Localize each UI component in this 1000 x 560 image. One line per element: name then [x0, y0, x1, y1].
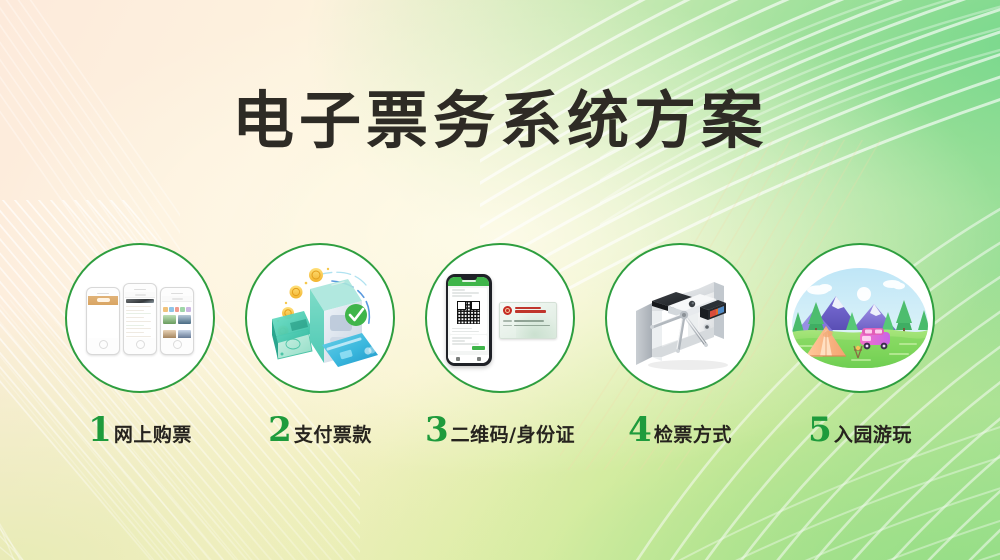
- step-3-label: 二维码/身份证: [451, 420, 575, 447]
- step-1-label: 网上购票: [114, 420, 192, 447]
- phone-attraction-gallery: [160, 287, 194, 355]
- step-3-number: 3: [425, 413, 449, 447]
- step-3-qr-and-id[interactable]: 3 二维码/身份证: [425, 243, 575, 447]
- step-1-caption: 1 网上购票: [88, 413, 192, 447]
- step-4-ticket-check[interactable]: 4 检票方式: [605, 243, 755, 447]
- step-2-label: 支付票款: [294, 420, 372, 447]
- phone-wallet-coins-card-payment-icon: [247, 245, 393, 391]
- page-title: 电子票务系统方案: [0, 86, 1000, 155]
- step-5-circle[interactable]: [785, 243, 935, 393]
- qr-action-button[interactable]: [472, 346, 485, 350]
- step-1-online-ticket-purchase[interactable]: 1 网上购票: [65, 243, 215, 447]
- turnstile-illustration: [622, 265, 742, 375]
- qr-code: [456, 300, 481, 325]
- steps-row: 1 网上购票: [0, 243, 1000, 447]
- step-5-label: 入园游玩: [834, 420, 912, 447]
- step-4-label: 检票方式: [654, 420, 732, 447]
- step-1-circle[interactable]: [65, 243, 215, 393]
- national-emblem-icon: [503, 306, 512, 315]
- three-smartphones-booking-app-icon: [67, 245, 213, 391]
- step-4-circle[interactable]: [605, 243, 755, 393]
- step-2-caption: 2 支付票款: [268, 413, 372, 447]
- step-3-caption: 3 二维码/身份证: [425, 413, 575, 447]
- tripod-turnstile-gate-icon: [607, 245, 753, 391]
- step-5-caption: 5 入园游玩: [808, 413, 912, 447]
- step-2-payment[interactable]: 2 支付票款: [245, 243, 395, 447]
- step-5-number: 5: [808, 413, 832, 447]
- step-3-circle[interactable]: [425, 243, 575, 393]
- camping-illustration: [792, 268, 928, 368]
- camping-scene-tent-mountains-icon: [787, 245, 933, 391]
- phone-booking-form: [86, 287, 120, 355]
- chinese-id-card: [499, 302, 557, 339]
- phone-attraction-detail: [123, 283, 157, 355]
- step-4-caption: 4 检票方式: [628, 413, 732, 447]
- step-5-enter-park[interactable]: 5 入园游玩: [785, 243, 935, 447]
- qr-code-phone-and-id-card-icon: [427, 245, 573, 391]
- phone-tab-bar[interactable]: [448, 355, 489, 363]
- qr-ticket-phone: [446, 274, 492, 366]
- step-1-number: 1: [88, 413, 112, 447]
- payment-illustration: [256, 259, 384, 377]
- step-4-number: 4: [628, 413, 652, 447]
- step-2-number: 2: [268, 413, 292, 447]
- step-2-circle[interactable]: [245, 243, 395, 393]
